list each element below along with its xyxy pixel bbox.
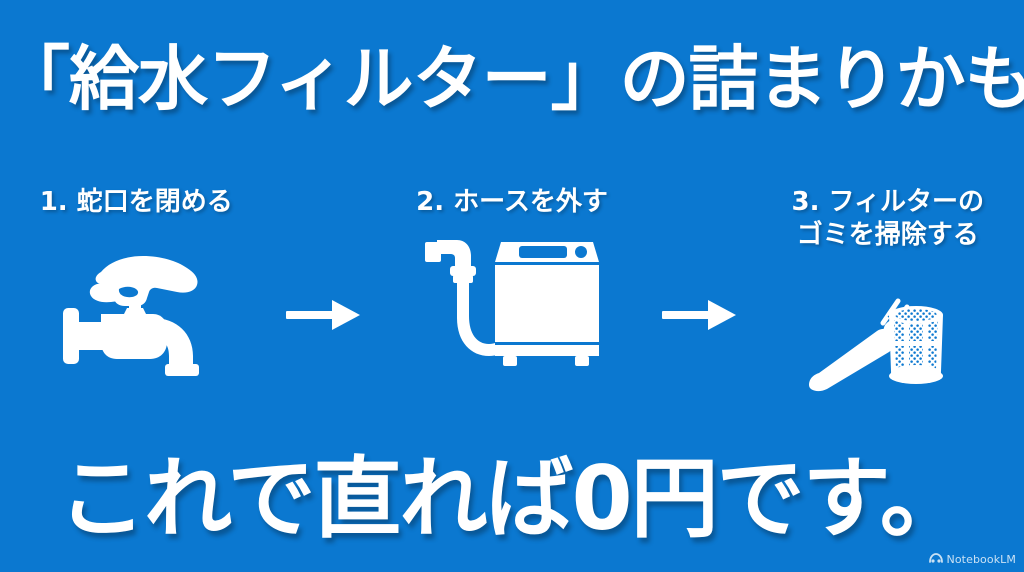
step-item-1: 1. 蛇口を閉める	[0, 186, 272, 381]
step-3-illustration	[805, 255, 970, 405]
headline: これで直れば0円です。	[0, 452, 1024, 545]
arrow-right-icon	[662, 298, 738, 332]
step-item-2: 2. ホースを外す	[376, 186, 648, 379]
arrow-cell-1	[272, 186, 375, 332]
step-item-3: 3. フィルターの ゴミを掃除する	[752, 186, 1024, 405]
arrow-right-icon	[286, 298, 362, 332]
step-1-label: 1. 蛇口を閉める	[40, 186, 233, 219]
watermark-label: NotebookLM	[947, 553, 1016, 566]
poster-canvas: 「給水フィルター」の詰まりかも 1. 蛇口を閉める	[0, 0, 1024, 572]
step-3-label: 3. フィルターの ゴミを掃除する	[792, 186, 985, 253]
step-2-label: 2. ホースを外す	[416, 186, 608, 219]
toothbrush-cleaning-mesh-filter-icon	[805, 267, 970, 392]
steps-row: 1. 蛇口を閉める	[0, 186, 1024, 416]
watermark: NotebookLM	[929, 552, 1016, 566]
step-1-illustration	[61, 231, 211, 381]
step-2-illustration	[423, 229, 601, 379]
page-title: 「給水フィルター」の詰まりかも	[0, 44, 1024, 114]
hand-closing-faucet-icon	[61, 234, 211, 379]
hose-detached-washing-machine-icon	[423, 234, 601, 374]
arrow-cell-2	[648, 186, 751, 332]
notebooklm-logo-icon	[929, 552, 943, 566]
